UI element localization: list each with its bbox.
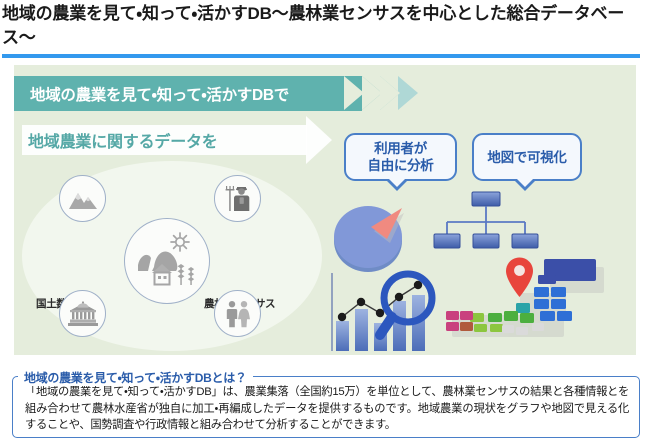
mountains-icon [68, 187, 98, 211]
japan-map-graphic [444, 253, 624, 355]
source-icon-census [214, 175, 261, 222]
source-icon-village [124, 218, 210, 304]
title-divider [2, 54, 640, 58]
bubble-free-analysis: 利用者が 自由に分析 [344, 133, 457, 181]
government-building-icon [67, 301, 99, 327]
org-chart-graphic [432, 190, 540, 258]
farmer-icon [223, 184, 253, 214]
hero-panel: 地域の農業を見て・知って・活かすDBで 地域農業に関するデータを 国土数値情報 [14, 65, 636, 355]
source-icon-gyosei [59, 290, 106, 337]
bubble-tail-map-inner [517, 179, 533, 187]
teal-banner: 地域の農業を見て・知って・活かすDBで [14, 76, 362, 111]
source-icon-kokudo [59, 175, 106, 222]
source-icon-kokusei [214, 290, 261, 337]
right-graphics-area: 利用者が 自由に分析 地図で可視化 [324, 65, 636, 355]
pie-chart-graphic [328, 185, 420, 275]
map-pin-icon [506, 258, 533, 298]
bubble-free-analysis-line2: 自由に分析 [354, 158, 447, 174]
arrow-label: 地域農業に関するデータを [28, 128, 218, 152]
bubble-map-visualization-line1: 地図で可視化 [487, 150, 566, 166]
description-legend: 地域の農業を見て・知って・活かすDBとは？ [18, 369, 253, 386]
bubble-free-analysis-line1: 利用者が [354, 141, 447, 157]
people-icon [223, 299, 253, 329]
teal-banner-label: 地域の農業を見て・知って・活かすDBで [14, 83, 289, 105]
bubble-map-visualization: 地図で可視化 [472, 133, 582, 181]
village-farmland-icon [134, 231, 200, 291]
page-title: 地域の農業を見て・知って・活かすDB〜農林業センサスを中心とした総合データベース… [0, 0, 645, 50]
description-body: 「地域の農業を見て・知って・活かすDB」は、農業集落（全国約15万）を単位として… [25, 384, 629, 434]
